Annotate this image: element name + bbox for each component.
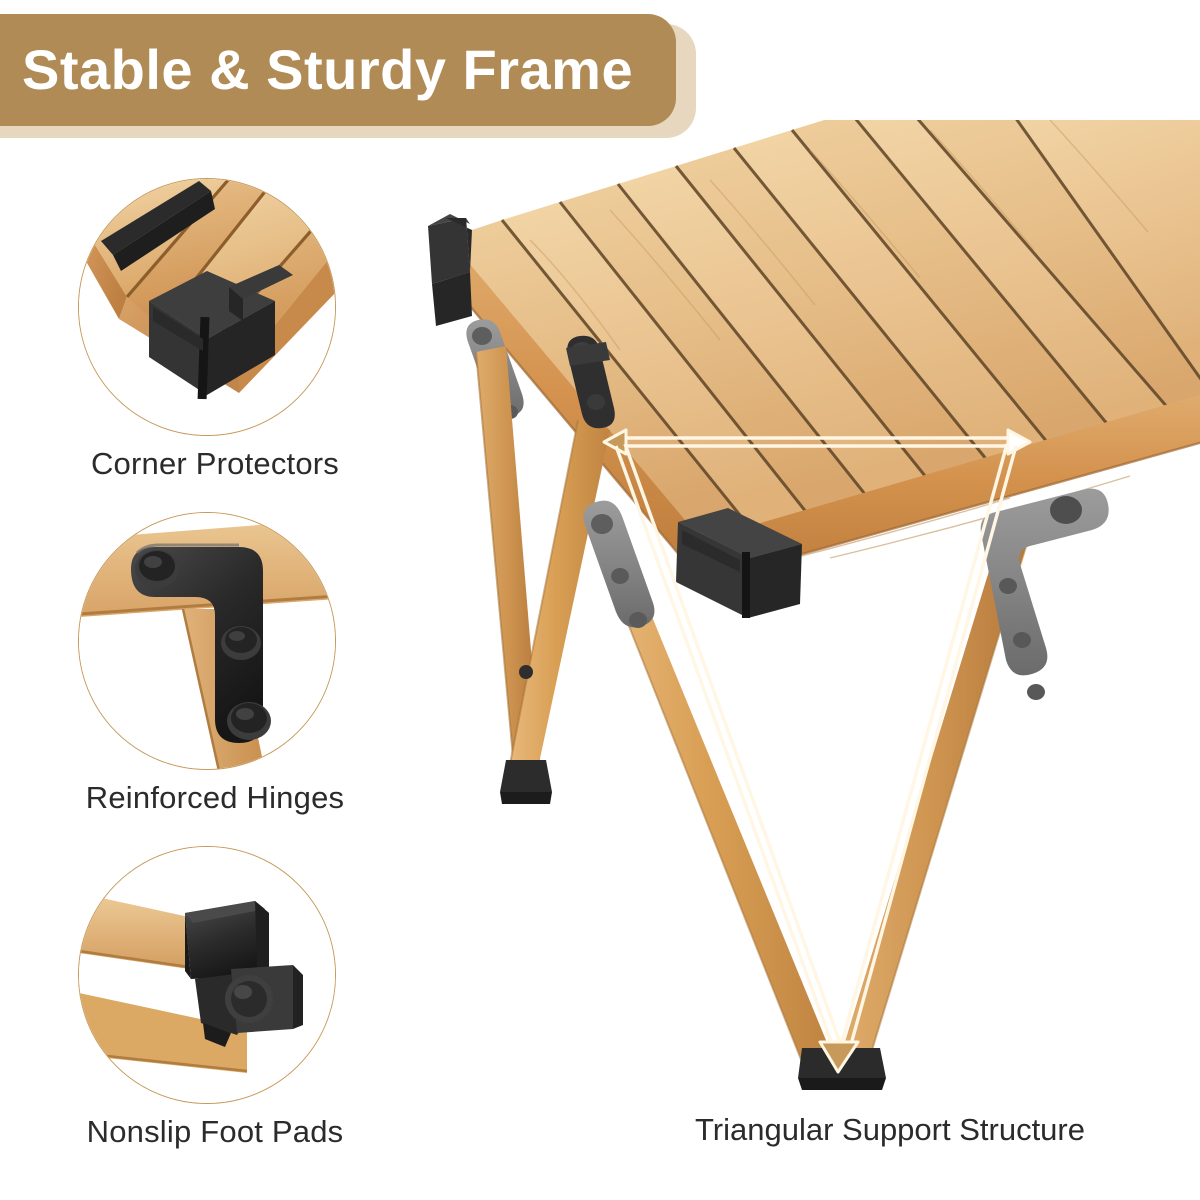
feature-label-nonslip-foot-pads: Nonslip Foot Pads <box>0 1114 430 1150</box>
foot-pad-icon <box>79 847 335 1103</box>
page-title: Stable & Sturdy Frame <box>0 42 633 98</box>
hinge-bracket-center-right <box>981 489 1109 700</box>
corner-protector-far-left <box>428 214 472 326</box>
nonslip-foot-pads-thumbnail <box>78 846 336 1104</box>
corner-protector-icon <box>79 179 335 435</box>
corner-protectors-thumbnail <box>78 178 336 436</box>
feature-label-corner-protectors: Corner Protectors <box>0 446 430 482</box>
reinforced-hinges-thumbnail <box>78 512 336 770</box>
title-banner-fill: Stable & Sturdy Frame <box>0 14 676 126</box>
infographic-canvas: Stable & Sturdy Frame <box>0 0 1200 1200</box>
feature-label-reinforced-hinges: Reinforced Hinges <box>0 780 430 816</box>
hinge-bracket-icon <box>79 513 335 769</box>
caption-triangular-support: Triangular Support Structure <box>600 1112 1180 1148</box>
product-illustration <box>410 120 1200 1120</box>
foot-pad-left <box>500 760 552 804</box>
camping-table-figure <box>410 120 1200 1120</box>
